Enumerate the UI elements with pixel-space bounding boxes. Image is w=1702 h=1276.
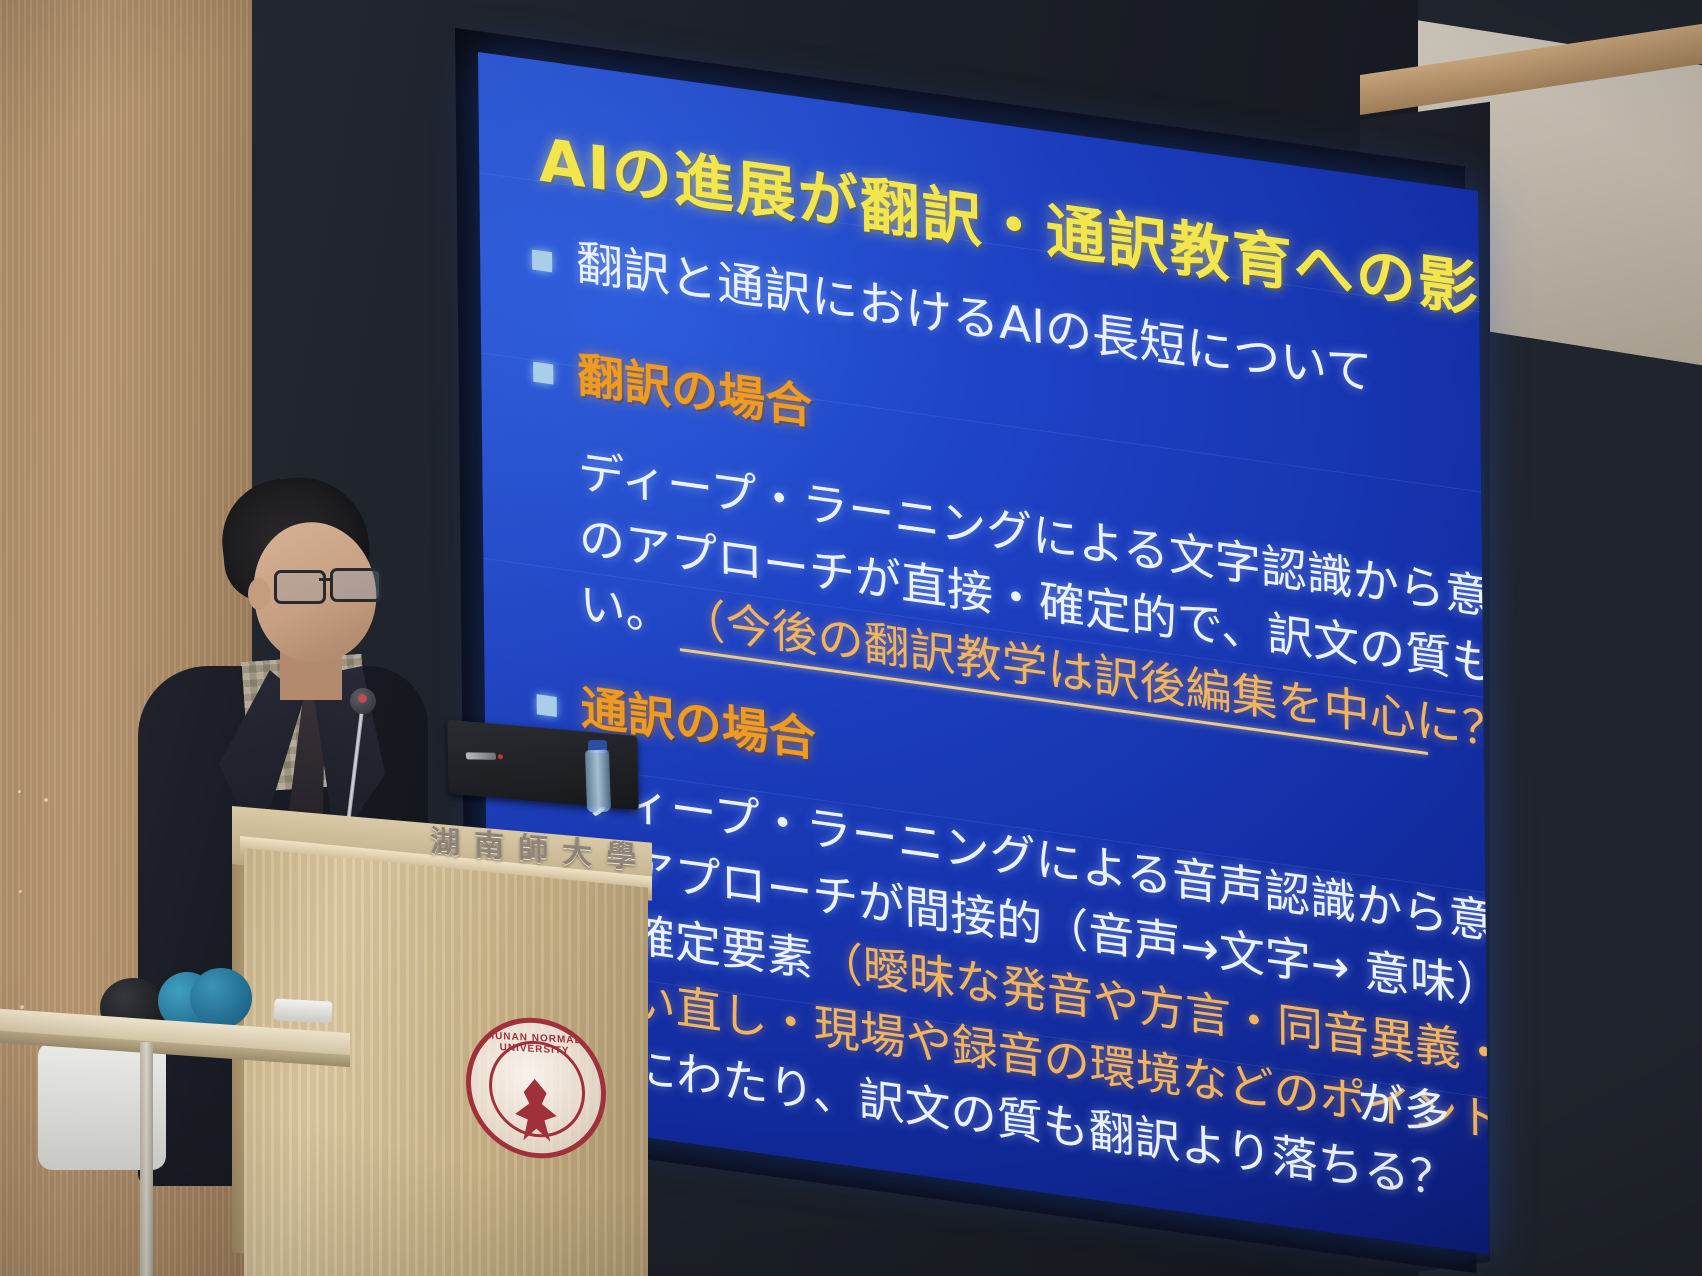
para2-line4b: が多: [1357, 1078, 1449, 1137]
bullet-marker-2: [533, 362, 553, 385]
table-leg: [140, 1042, 153, 1276]
water-bottle: [585, 750, 611, 813]
bullet-marker-1: [532, 250, 552, 273]
venue-char-2: 南: [474, 820, 504, 868]
ear: [248, 578, 270, 610]
venue-char-4: 大: [562, 827, 592, 875]
lecture-hall-photo: AIの進展が翻訳・通訳教育への影響 翻訳と通訳におけるAIの長短について 翻訳の…: [0, 0, 1702, 1276]
laptop-logo-dot-icon: [498, 754, 503, 759]
glasses-bridge: [319, 578, 332, 581]
venue-char-5: 學: [606, 830, 636, 878]
lens-right: [330, 568, 382, 602]
lens-left: [274, 570, 326, 604]
table-microphone-teal-2: [190, 968, 252, 1028]
section-heading-translation: 翻訳の場合: [577, 352, 812, 432]
venue-char-1: 湖: [430, 816, 460, 864]
microphone-indicator-light: [358, 694, 367, 703]
presentation-remote: [273, 998, 332, 1023]
laptop-logo-icon: [466, 752, 496, 760]
eyeglasses-icon: [274, 566, 382, 600]
venue-char-3: 師: [518, 823, 548, 871]
bullet-marker-3: [537, 694, 557, 717]
para1-line3: い。: [579, 580, 671, 639]
